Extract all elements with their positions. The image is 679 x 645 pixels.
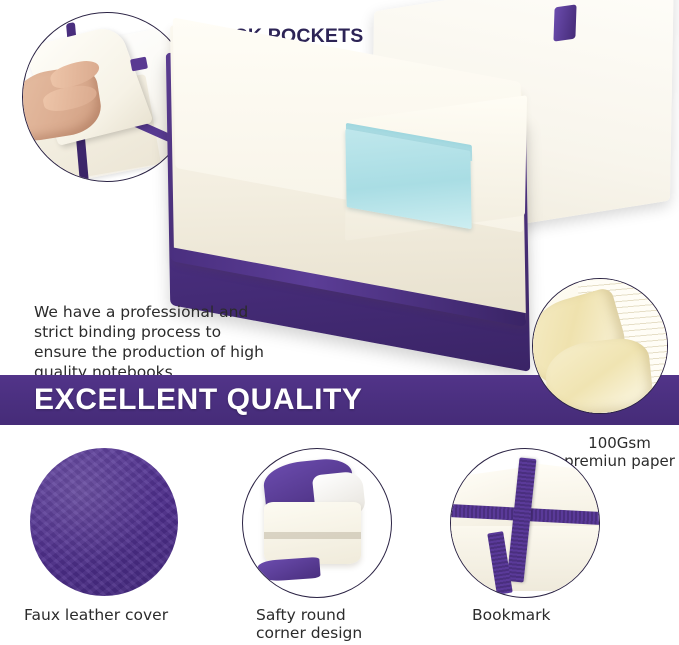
premium-paper-caption: 100Gsm premiun paper [560, 434, 679, 470]
excellent-quality-banner-text: EXCELLENT QUALITY [34, 385, 363, 415]
safety-round-corner-caption-line2: corner design [256, 624, 456, 642]
safety-round-corner-caption-line1: Safty round [256, 606, 456, 624]
elastic-band-shape [553, 4, 576, 41]
premium-paper-caption-line1: 100Gsm [560, 434, 679, 452]
infographic-canvas: BACK POCKETS Organize stickers and notes… [0, 0, 679, 645]
faux-leather-cover-caption: Faux leather cover [24, 606, 224, 624]
rounded-corner-photo-circle [242, 448, 392, 598]
faux-leather-swatch-photo-circle [30, 448, 178, 596]
premium-paper-caption-line2: premiun paper [560, 452, 679, 470]
premium-paper-photo-circle [532, 278, 668, 414]
bookmark-ribbon-photo-circle [450, 448, 600, 598]
binding-process-text: We have a professional and strict bindin… [34, 302, 270, 383]
corner-page-block-shadow-shape [264, 532, 362, 539]
bookmark-caption: Bookmark [472, 606, 672, 624]
safety-round-corner-caption: Safty round corner design [256, 606, 456, 643]
